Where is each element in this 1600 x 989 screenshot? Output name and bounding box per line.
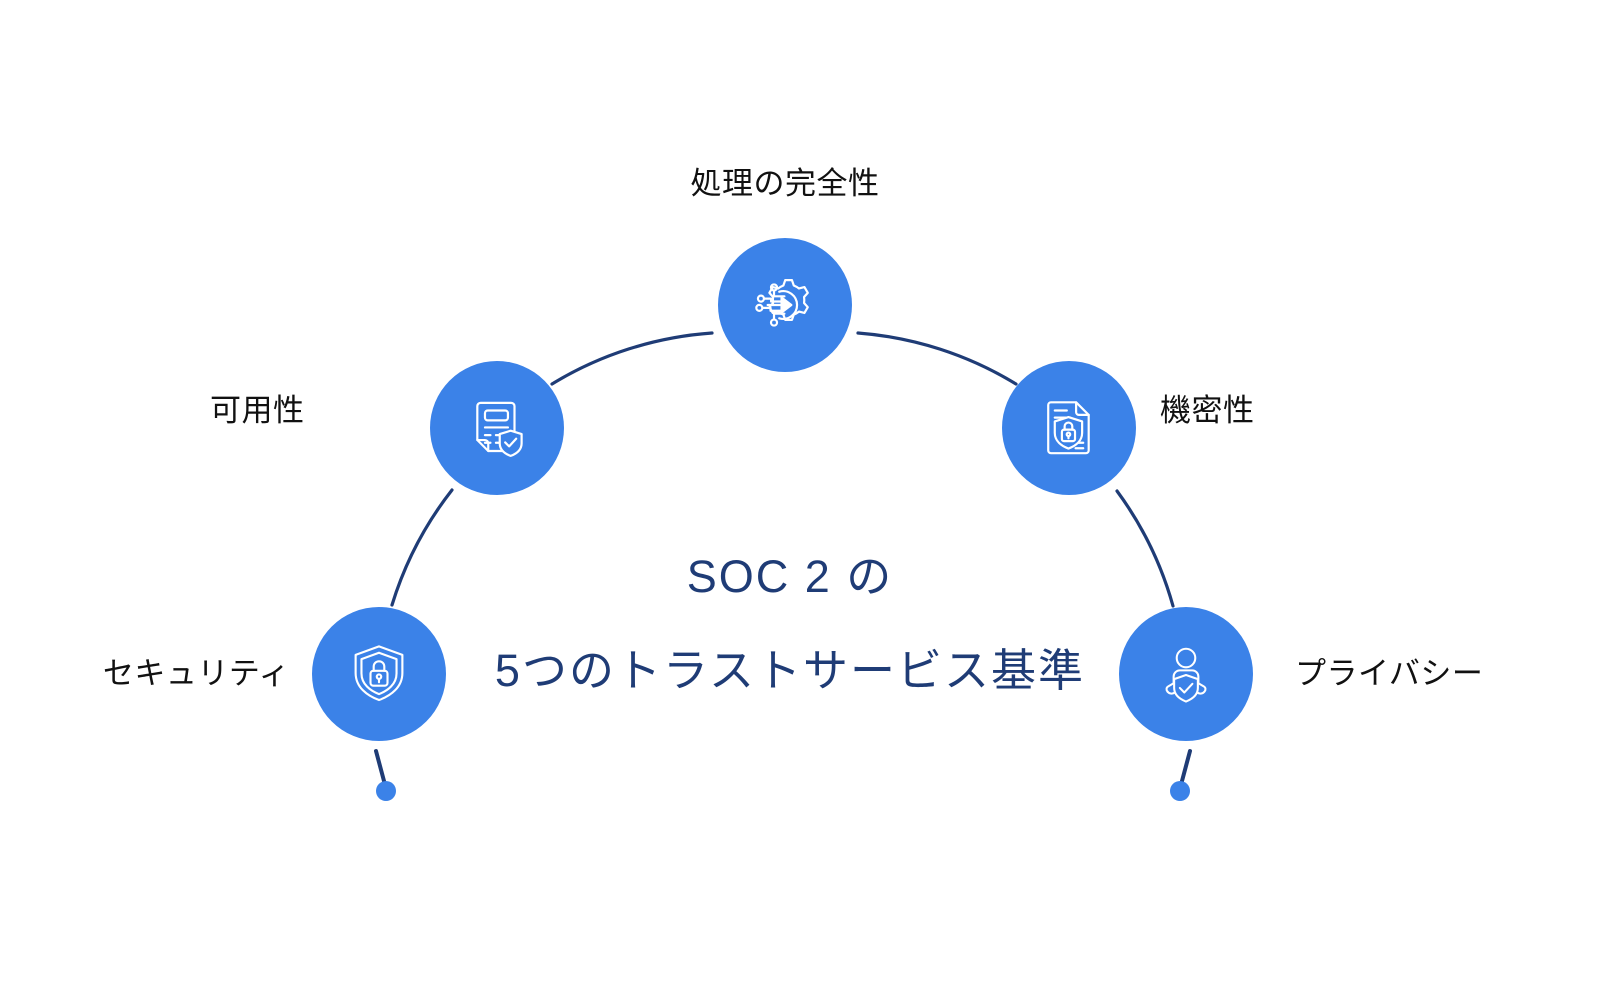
label-processing-integrity: 処理の完全性 bbox=[635, 165, 935, 204]
arc-availability-processing bbox=[552, 333, 712, 384]
stem-security bbox=[376, 751, 384, 781]
arc-processing-confidentiality bbox=[858, 333, 1016, 384]
gear-circuit-arrow-icon bbox=[748, 268, 822, 342]
node-availability[interactable] bbox=[430, 361, 564, 495]
node-confidentiality[interactable] bbox=[1002, 361, 1136, 495]
document-shield-lock-icon bbox=[1034, 393, 1104, 463]
label-privacy: プライバシー bbox=[1295, 655, 1575, 694]
label-availability: 可用性 bbox=[210, 392, 410, 431]
endpoint-dot-security bbox=[376, 781, 396, 801]
document-shield-check-icon bbox=[462, 393, 532, 463]
label-confidentiality: 機密性 bbox=[1160, 392, 1420, 431]
diagram-title-line-2: 5つのトラストサービス基準 bbox=[470, 646, 1110, 696]
arc-security-availability bbox=[392, 490, 452, 605]
soc2-trust-criteria-diagram: SOC 2 の 5つのトラストサービス基準 bbox=[0, 0, 1600, 989]
node-privacy[interactable] bbox=[1119, 607, 1253, 741]
arc-confidentiality-privacy bbox=[1117, 491, 1173, 606]
shield-padlock-icon bbox=[345, 640, 413, 708]
label-security: セキュリティ bbox=[40, 655, 290, 694]
connector-layer bbox=[0, 0, 1600, 989]
node-processing-integrity[interactable] bbox=[718, 238, 852, 372]
diagram-title: SOC 2 の 5つのトラストサービス基準 bbox=[470, 552, 1110, 695]
endpoint-dot-privacy bbox=[1170, 781, 1190, 801]
person-shield-check-icon bbox=[1153, 641, 1219, 707]
stem-privacy bbox=[1182, 751, 1190, 781]
diagram-title-line-1: SOC 2 の bbox=[470, 552, 1110, 602]
node-security[interactable] bbox=[312, 607, 446, 741]
